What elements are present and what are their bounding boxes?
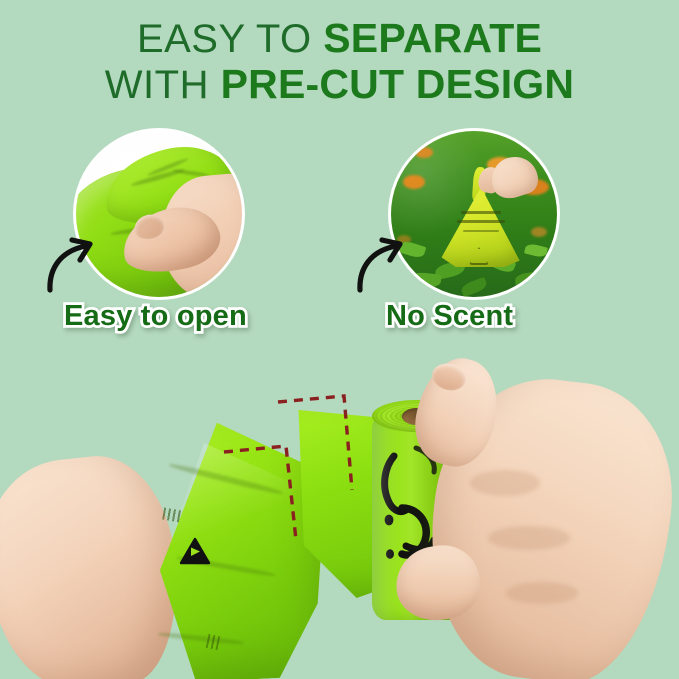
headline-line-1: EASY TO SEPARATE bbox=[0, 18, 679, 60]
headline-line-1-bold: SEPARATE bbox=[323, 15, 542, 61]
print-line bbox=[461, 211, 501, 214]
fallen-leaf bbox=[415, 147, 433, 158]
infographic-stage: EASY TO SEPARATE WITH PRE-CUT DESIGN Eas… bbox=[0, 0, 679, 679]
arrow-to-easy-to-open bbox=[44, 233, 104, 300]
print-line bbox=[463, 230, 499, 232]
arrow-to-no-scent bbox=[354, 233, 414, 300]
knuckle-shade bbox=[470, 470, 540, 496]
print-line bbox=[457, 220, 505, 223]
feature-photo-no-scent bbox=[391, 131, 557, 297]
headline-line-2-bold: PRE-CUT DESIGN bbox=[221, 61, 575, 107]
hero-product-photo bbox=[0, 350, 679, 679]
photo-bag-over-grass bbox=[391, 131, 557, 297]
knuckle-shade bbox=[506, 582, 578, 604]
headline-line-2-light: WITH bbox=[105, 63, 221, 107]
tied-bag bbox=[439, 161, 523, 269]
fallen-leaf bbox=[403, 175, 425, 189]
headline-block: EASY TO SEPARATE WITH PRE-CUT DESIGN bbox=[0, 18, 679, 106]
headline-line-2: WITH PRE-CUT DESIGN bbox=[0, 64, 679, 106]
knuckle-shade bbox=[488, 526, 570, 550]
bag-printed-text bbox=[453, 207, 511, 247]
headline-line-1-light: EASY TO bbox=[137, 17, 323, 61]
caption-easy-to-open: Easy to open bbox=[64, 300, 247, 333]
caption-no-scent: No Scent bbox=[386, 300, 513, 333]
fallen-leaf bbox=[531, 227, 547, 237]
